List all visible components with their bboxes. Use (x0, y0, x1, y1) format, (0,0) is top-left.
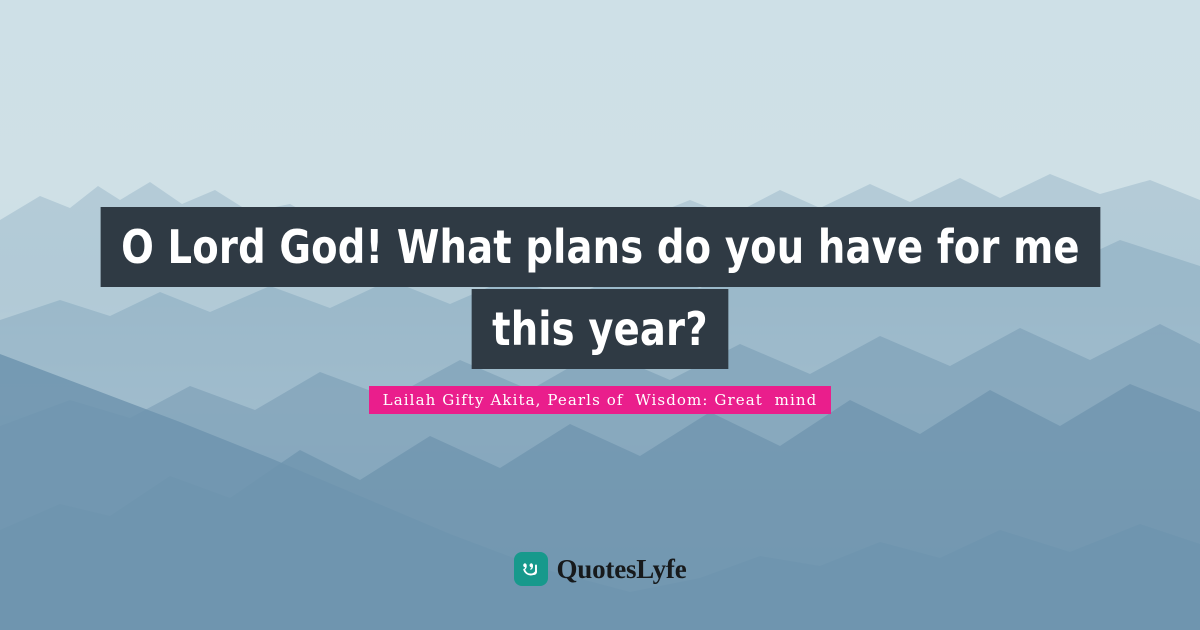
quote-block: O Lord God! What plans do you have for m… (0, 207, 1200, 369)
brand-logo[interactable]: QuotesLyfe (0, 552, 1200, 586)
attribution-text: Lailah Gifty Akita, Pearls of Wisdom: Gr… (369, 386, 832, 414)
quote-smiley-icon (514, 552, 548, 586)
quote-line-1: O Lord God! What plans do you have for m… (100, 207, 1100, 287)
quote-card: O Lord God! What plans do you have for m… (0, 0, 1200, 630)
brand-name: QuotesLyfe (557, 554, 687, 585)
attribution-block: Lailah Gifty Akita, Pearls of Wisdom: Gr… (0, 386, 1200, 414)
quote-line-2: this year? (472, 289, 729, 369)
